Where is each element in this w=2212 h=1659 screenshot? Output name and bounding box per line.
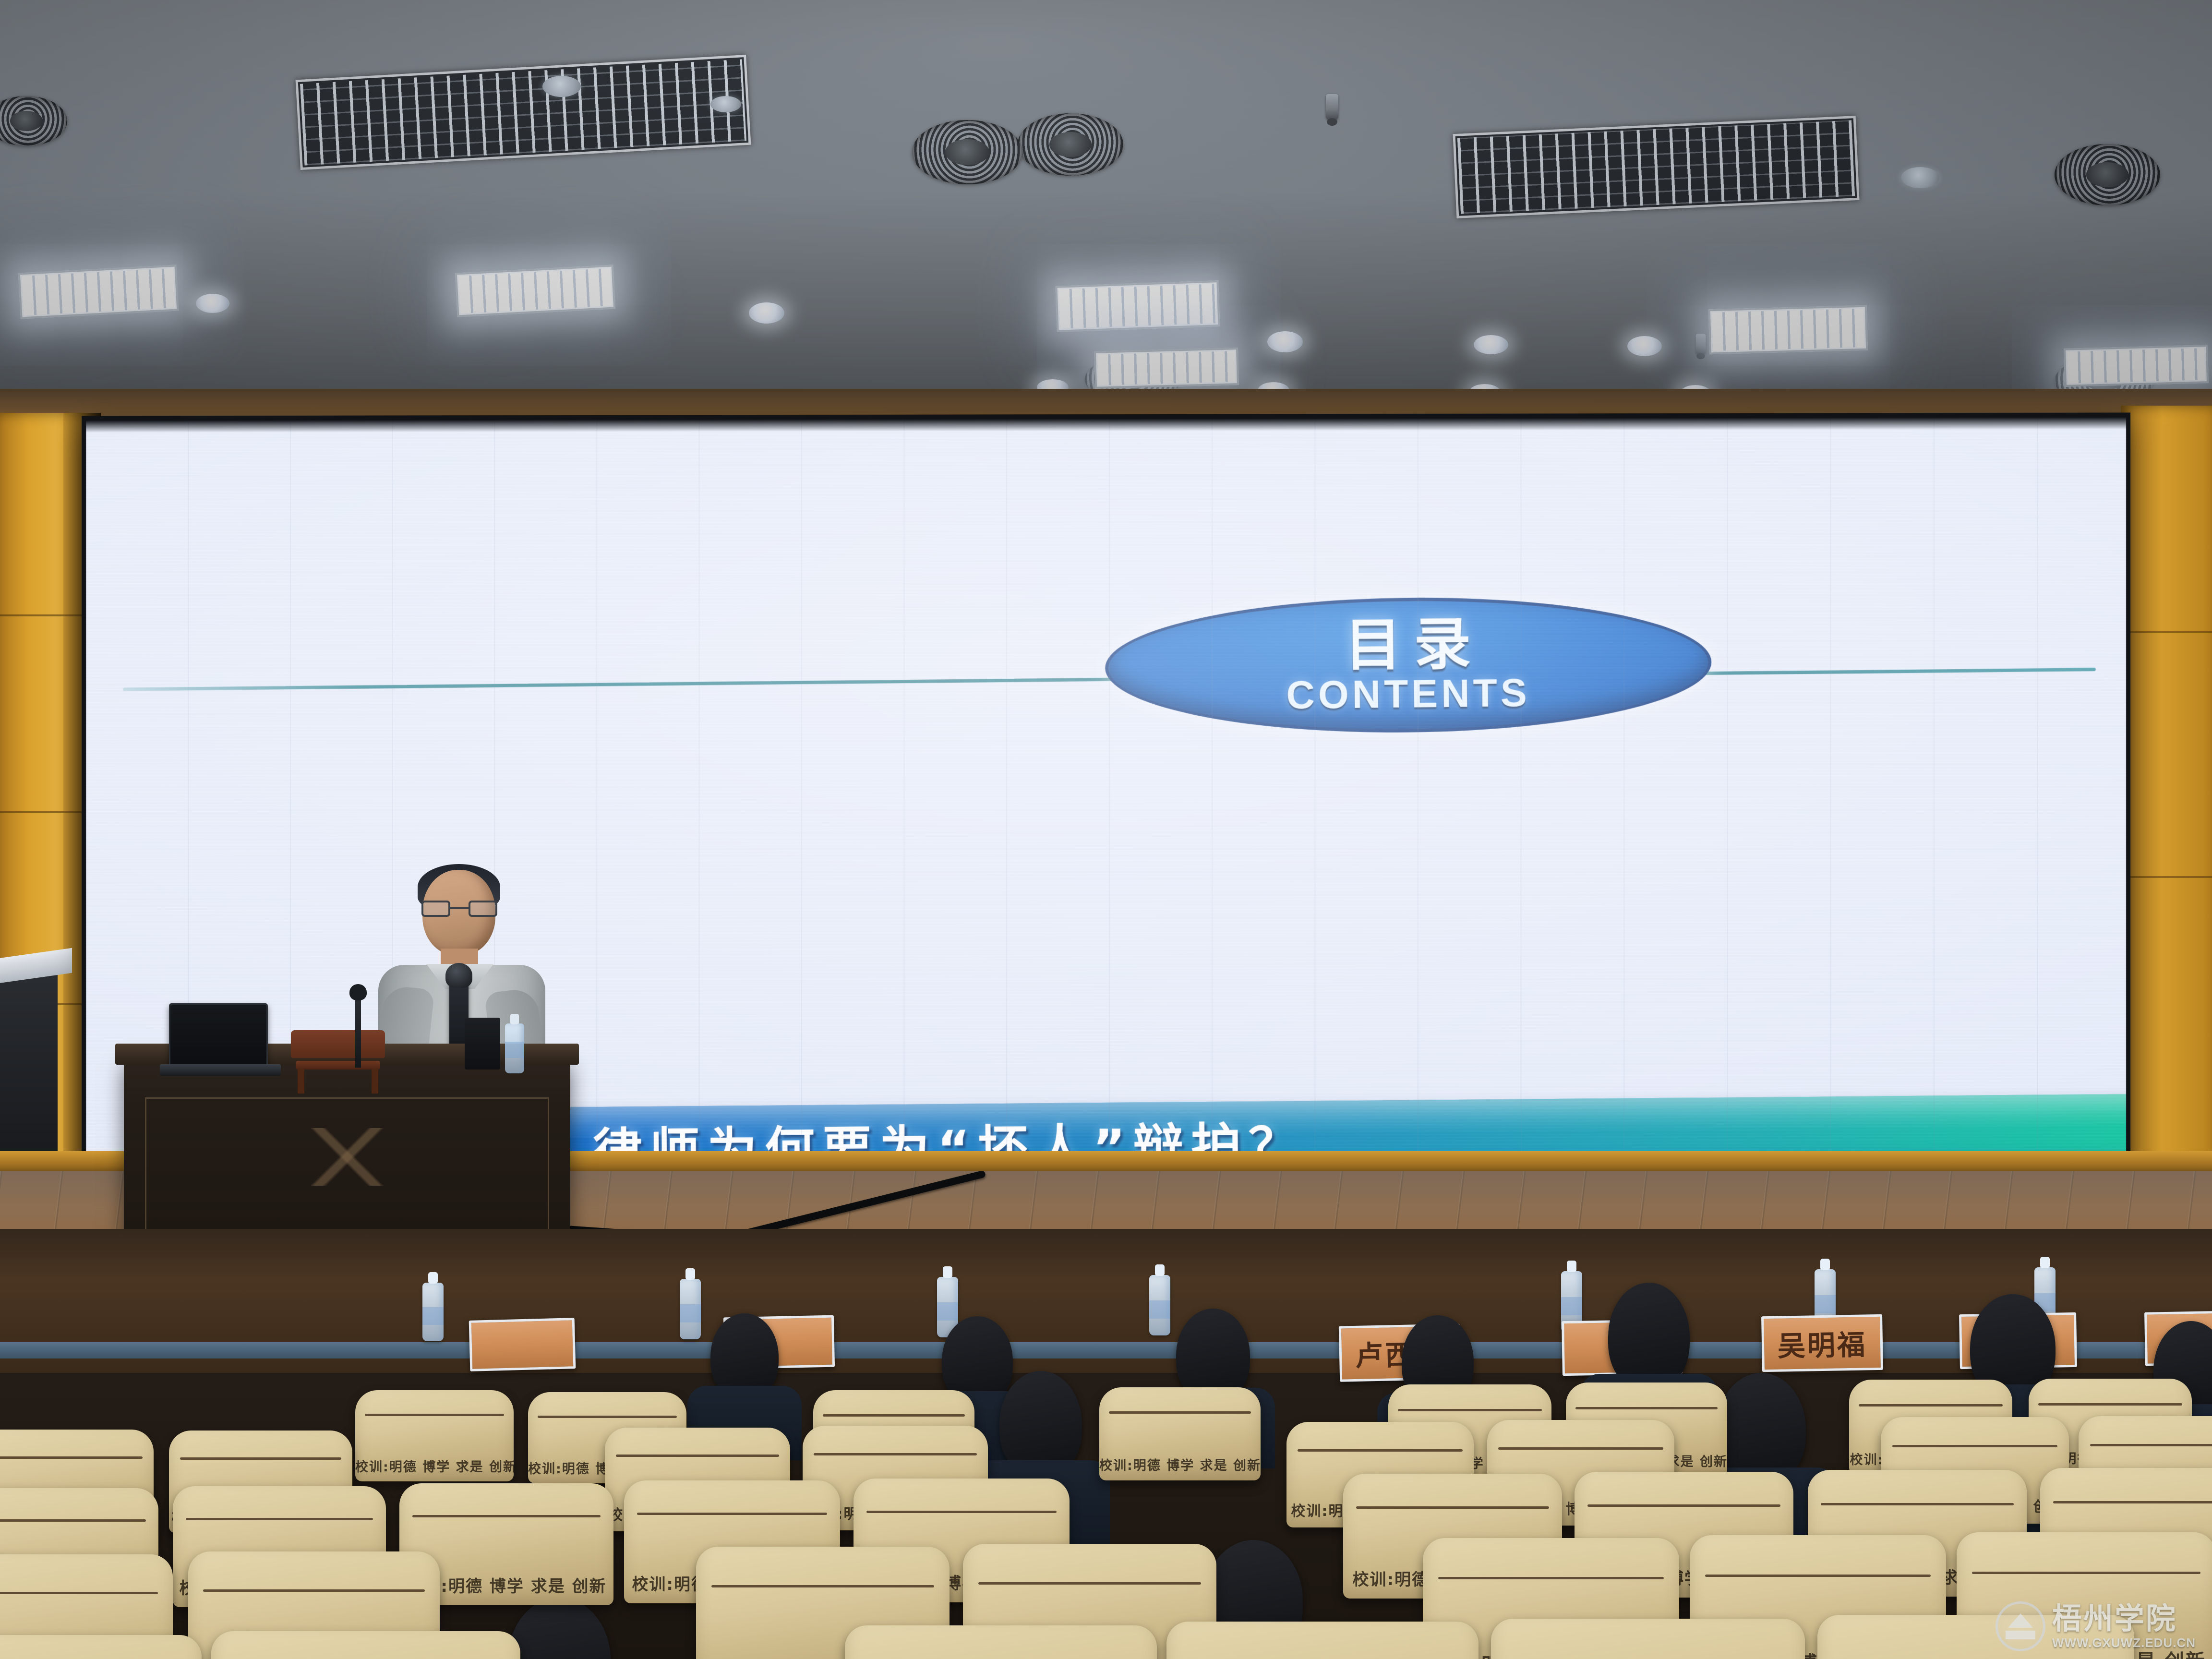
name-placard-label: 吴明福	[1777, 1322, 1867, 1364]
chair-back	[291, 1030, 385, 1058]
auditorium-scene: 目录 CONTENTS 一、 律师为何要为“坏人”辩护？ 二、 律师和公安是对立…	[0, 0, 2212, 1659]
chair-slat	[296, 1061, 380, 1070]
speaker-box	[465, 1018, 500, 1070]
glasses-bridge	[450, 907, 469, 909]
list-item: 校训:明德 博学 求是 创新	[211, 1631, 520, 1659]
list-item: 校训:明德 博学 求是 创新	[845, 1625, 1157, 1659]
desk-chevron-motif	[167, 1128, 527, 1186]
louver-slats	[300, 59, 746, 165]
list-item: 校风:厚道 笃达	[1491, 1619, 1805, 1659]
recessed-downlight	[749, 302, 784, 324]
audience-member	[1608, 1283, 1690, 1391]
panel-light	[1094, 348, 1239, 389]
desk-microphone-icon	[355, 996, 361, 1068]
audience-member	[1717, 1373, 1806, 1485]
water-bottle-icon	[422, 1283, 444, 1341]
list-item: 校训:明德 博学 求是 创新	[1099, 1387, 1261, 1480]
watermark: 梧州学院 WWW.GXUWZ.EDU.CN	[1996, 1601, 2196, 1651]
audience-member	[710, 1313, 779, 1400]
university-seal-icon	[1996, 1601, 2045, 1651]
louver-slats	[1457, 120, 1855, 214]
watermark-institution: 梧州学院	[2052, 1604, 2196, 1634]
audience-area: 卢西辛 吴明福 江 平 校训:明德 博学 求是 创新	[0, 1229, 2212, 1659]
list-item: 校训:明德 博学 求是 创新	[355, 1390, 514, 1481]
ceiling-speaker-icon	[2055, 144, 2160, 205]
panel-light	[2064, 345, 2209, 387]
laptop-base	[160, 1064, 281, 1076]
water-bottle-icon	[1149, 1275, 1170, 1335]
list-item: 校风:厚道 笃达	[0, 1635, 202, 1659]
ceiling-speaker-icon	[1018, 113, 1123, 176]
name-placard	[469, 1318, 576, 1371]
glasses-lens-left	[421, 901, 450, 917]
chair-leg	[298, 1069, 304, 1094]
recessed-downlight	[1627, 336, 1662, 356]
ceiling	[0, 0, 2212, 398]
recessed-downlight	[710, 96, 741, 112]
panel-light	[1055, 280, 1220, 332]
panel-light	[1708, 305, 1868, 355]
name-placard: 吴明福	[1761, 1314, 1883, 1372]
water-bottle-icon	[505, 1023, 524, 1073]
recessed-downlight	[1267, 331, 1303, 352]
sprinkler-head-icon	[1696, 334, 1706, 354]
ceiling-speaker-icon	[912, 120, 1022, 184]
seat-motto: 校训:明德 博学 求是 创新	[1099, 1455, 1261, 1474]
recessed-downlight	[1474, 335, 1508, 354]
slide-title-cn: 目录	[1332, 615, 1484, 673]
audience-member	[508, 1598, 611, 1659]
seat-motto: 校训:明德 博学 求是 创新	[355, 1456, 514, 1475]
glasses-lens-right	[469, 901, 497, 917]
glasses-icon	[421, 901, 497, 917]
wooden-chair	[291, 1030, 385, 1093]
recessed-downlight	[196, 294, 229, 313]
water-bottle-icon	[680, 1279, 701, 1339]
watermark-text: 梧州学院 WWW.GXUWZ.EDU.CN	[2052, 1604, 2196, 1649]
slide-title-badge: 目录 CONTENTS	[1105, 595, 1712, 735]
panel-light	[18, 264, 179, 319]
list-item: 校训:明德 博学 求是 创新	[1166, 1622, 1479, 1659]
sprinkler-head-icon	[1326, 94, 1338, 120]
laptop-icon	[169, 1003, 268, 1067]
panel-light	[455, 264, 615, 317]
ceiling-speaker-icon	[0, 96, 67, 146]
recessed-downlight	[542, 76, 581, 97]
audience-member	[999, 1371, 1082, 1478]
louvered-troffer-icon	[1453, 116, 1859, 218]
recessed-downlight	[1901, 167, 1939, 188]
slide-title-en: CONTENTS	[1286, 673, 1530, 715]
watermark-url: WWW.GXUWZ.EDU.CN	[2052, 1636, 2196, 1649]
chair-leg	[372, 1069, 378, 1094]
louvered-troffer-icon	[295, 55, 751, 170]
right-wall-panel	[2121, 406, 2212, 1193]
